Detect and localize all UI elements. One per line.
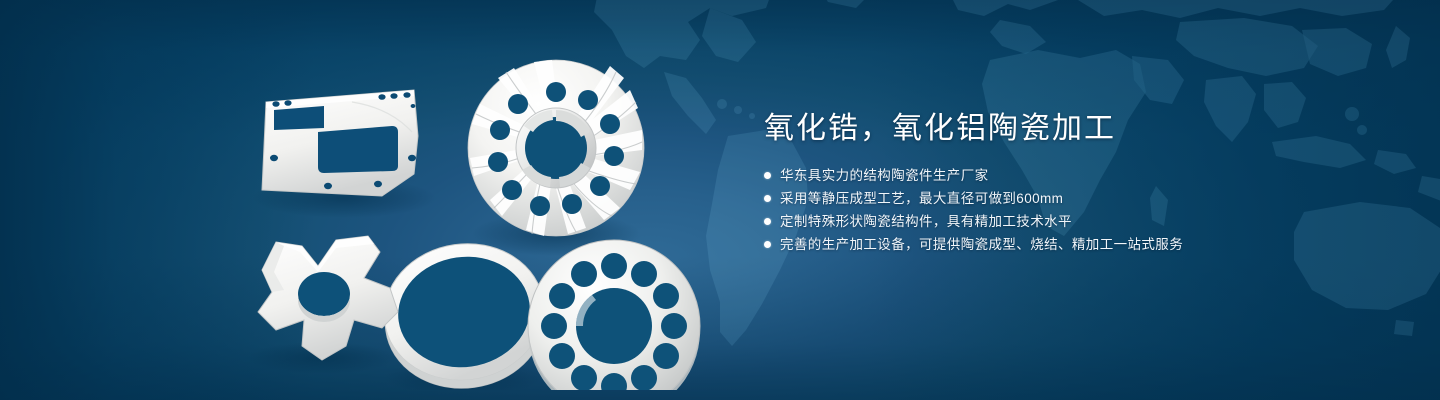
bullet-dot-icon <box>764 218 771 225</box>
list-item: 定制特殊形状陶瓷结构件，具有精加工技术水平 <box>764 210 1384 233</box>
list-item-label: 完善的生产加工设备，可提供陶瓷成型、烧结、精加工一站式服务 <box>780 233 1183 256</box>
banner-copy: 氧化锆，氧化铝陶瓷加工 华东具实力的结构陶瓷件生产厂家 采用等静压成型工艺，最大… <box>764 108 1384 256</box>
ceramic-products-image <box>232 40 712 390</box>
page-title: 氧化锆，氧化铝陶瓷加工 <box>764 108 1384 150</box>
ceramic-cross-plate <box>248 236 398 374</box>
list-item-label: 华东具实力的结构陶瓷件生产厂家 <box>780 164 989 187</box>
ceramic-ring <box>375 234 553 390</box>
ceramic-impeller-disc <box>468 60 644 256</box>
bullet-dot-icon <box>764 172 771 179</box>
list-item: 华东具实力的结构陶瓷件生产厂家 <box>764 164 1384 187</box>
ceramic-perforated-disc <box>528 240 700 390</box>
ceramic-machined-plate <box>252 90 436 218</box>
list-item-label: 采用等静压成型工艺，最大直径可做到600mm <box>780 187 1063 210</box>
bullet-dot-icon <box>764 195 771 202</box>
feature-list: 华东具实力的结构陶瓷件生产厂家 采用等静压成型工艺，最大直径可做到600mm 定… <box>764 164 1384 256</box>
list-item: 采用等静压成型工艺，最大直径可做到600mm <box>764 187 1384 210</box>
bullet-dot-icon <box>764 241 771 248</box>
list-item: 完善的生产加工设备，可提供陶瓷成型、烧结、精加工一站式服务 <box>764 233 1384 256</box>
promo-banner: 氧化锆，氧化铝陶瓷加工 华东具实力的结构陶瓷件生产厂家 采用等静压成型工艺，最大… <box>0 0 1440 400</box>
list-item-label: 定制特殊形状陶瓷结构件，具有精加工技术水平 <box>780 210 1072 233</box>
